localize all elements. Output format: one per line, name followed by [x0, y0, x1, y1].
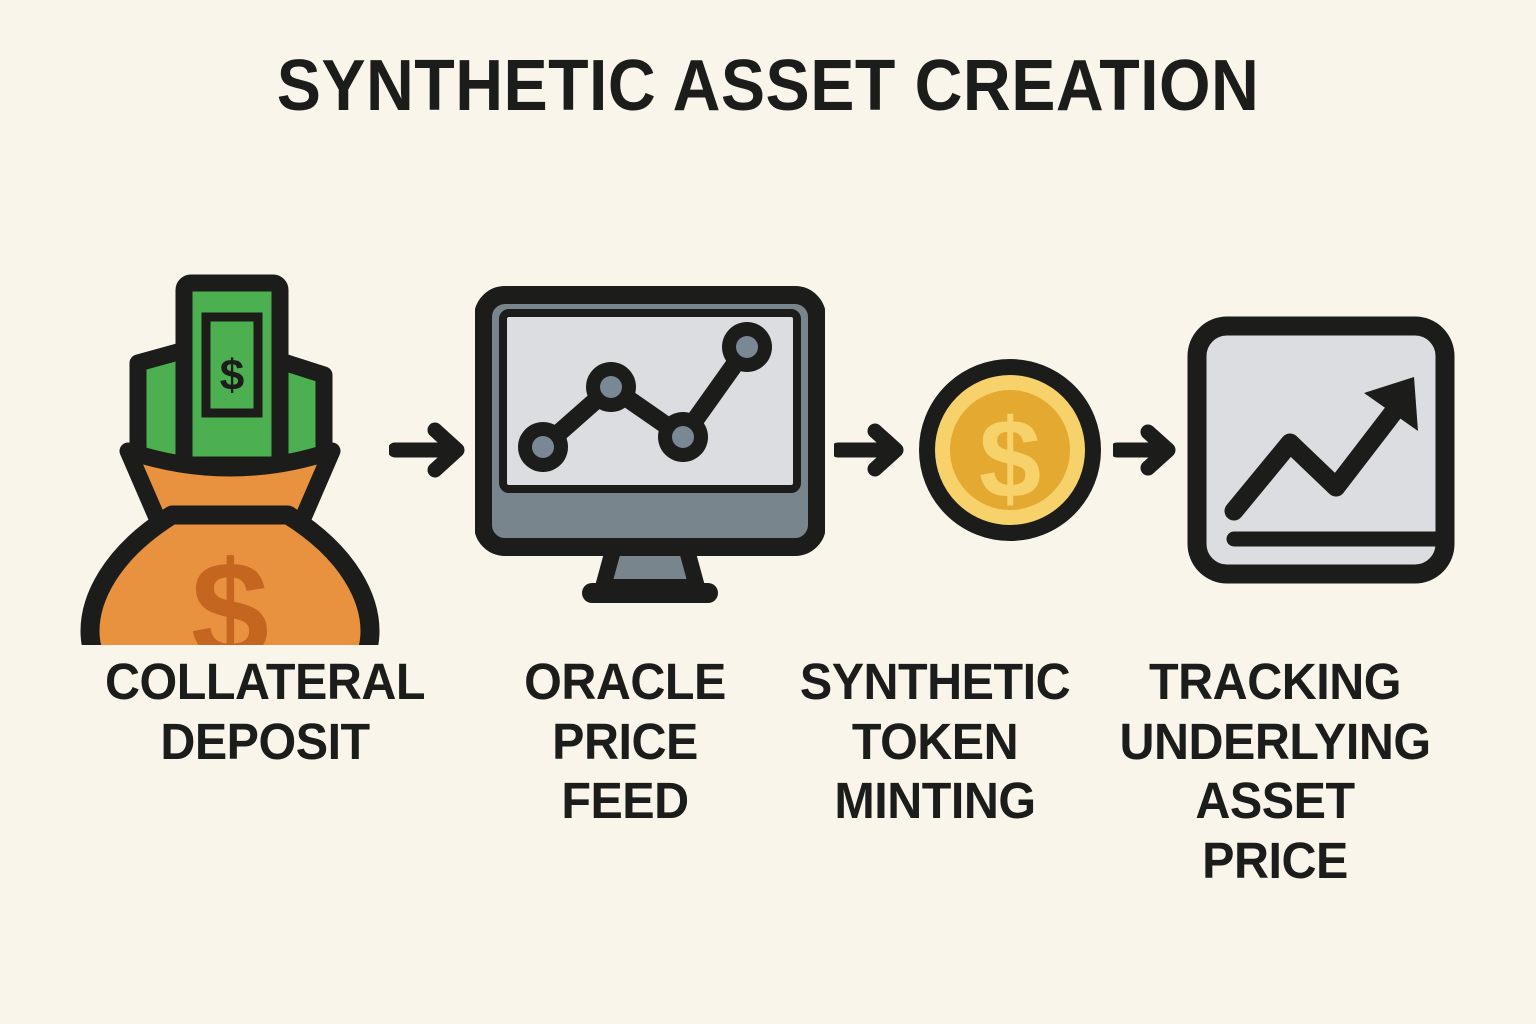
connector-arrow-2 [834, 422, 906, 478]
connector-arrow-3 [1113, 423, 1177, 477]
money-bag-icon: $ $ [80, 255, 380, 645]
gold-coin-icon: $ [915, 350, 1105, 550]
label-line: UNDERLYING [1109, 712, 1442, 772]
process-flow: $ $ [80, 250, 1456, 650]
label-line: ORACLE [487, 652, 763, 712]
label-line: DEPOSIT [61, 712, 470, 772]
arrow-right-icon [389, 422, 467, 478]
label-line: PRICE [1109, 831, 1442, 891]
connector-arrow-1 [389, 422, 467, 478]
trending-up-chart-icon [1186, 315, 1456, 585]
label-line: MINTING [778, 771, 1092, 831]
page-title: SYNTHETIC ASSET CREATION [61, 50, 1474, 122]
svg-text:$: $ [978, 396, 1040, 521]
label-line: FEED [487, 771, 763, 831]
svg-text:$: $ [220, 351, 244, 400]
label-synthetic-token-minting: SYNTHETIC TOKEN MINTING [778, 652, 1092, 831]
step-icon-oracle-price-feed [475, 285, 825, 615]
svg-text:$: $ [191, 532, 269, 645]
label-oracle-price-feed: ORACLE PRICE FEED [487, 652, 763, 831]
infographic-canvas: SYNTHETIC ASSET CREATION $ $ [0, 0, 1536, 1024]
monitor-line-chart-icon [475, 285, 825, 615]
step-icon-synthetic-token-minting: $ [915, 350, 1105, 550]
label-line: ASSET [1109, 771, 1442, 831]
label-line: TOKEN [778, 712, 1092, 772]
arrow-right-icon [834, 422, 906, 478]
step-labels: COLLATERAL DEPOSIT ORACLE PRICE FEED SYN… [60, 652, 1476, 891]
label-line: SYNTHETIC [778, 652, 1092, 712]
label-collateral-deposit: COLLATERAL DEPOSIT [61, 652, 470, 771]
label-line: PRICE [487, 712, 763, 772]
step-icon-collateral-deposit: $ $ [80, 255, 380, 645]
label-line: COLLATERAL [61, 652, 470, 712]
label-line: TRACKING [1109, 652, 1442, 712]
label-tracking-underlying-asset-price: TRACKING UNDERLYING ASSET PRICE [1109, 652, 1442, 891]
arrow-right-icon [1113, 423, 1177, 477]
step-icon-tracking-underlying-asset-price [1186, 315, 1456, 585]
